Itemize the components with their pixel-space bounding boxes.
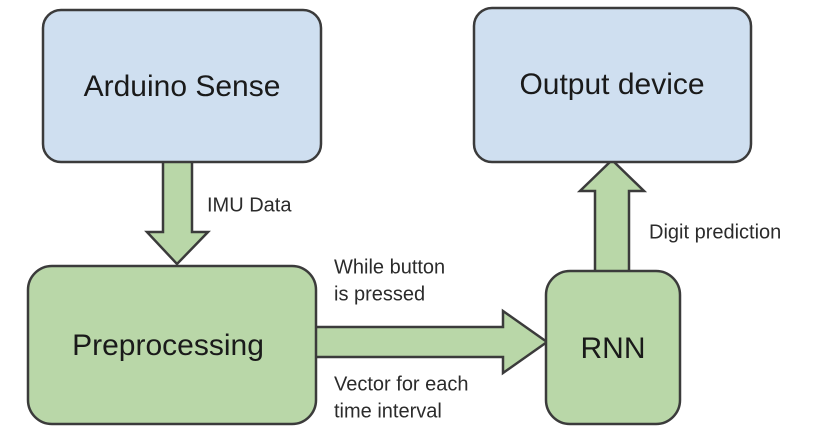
node-output-device-label: Output device [519, 68, 704, 101]
edge-label-digit-prediction: Digit prediction [649, 221, 781, 243]
diagram-svg: Arduino Sense Output device Preprocessin… [0, 0, 820, 440]
edge-rnn-to-output-device [580, 160, 644, 282]
edge-label-while-button-line2: is pressed [334, 283, 425, 305]
edge-label-imu-data: IMU Data [207, 194, 292, 216]
right-arrow-shape [312, 311, 547, 373]
node-arduino-sense[interactable]: Arduino Sense [43, 10, 321, 162]
edge-label-vector-line1: Vector for each [334, 373, 469, 395]
node-rnn[interactable]: RNN [546, 271, 680, 424]
node-rnn-label: RNN [581, 332, 646, 365]
edge-preprocessing-to-rnn [312, 311, 547, 373]
diagram-canvas: Arduino Sense Output device Preprocessin… [0, 0, 820, 440]
edge-label-vector-line2: time interval [334, 400, 442, 422]
up-arrow-shape [580, 160, 644, 282]
node-arduino-sense-label: Arduino Sense [84, 70, 281, 103]
edge-label-while-button-line1: While button [334, 256, 445, 278]
node-output-device[interactable]: Output device [474, 8, 751, 162]
edge-arduino-to-preprocessing [147, 150, 208, 264]
node-preprocessing[interactable]: Preprocessing [28, 266, 316, 424]
node-preprocessing-label: Preprocessing [72, 329, 264, 362]
down-arrow-shape [147, 150, 208, 264]
